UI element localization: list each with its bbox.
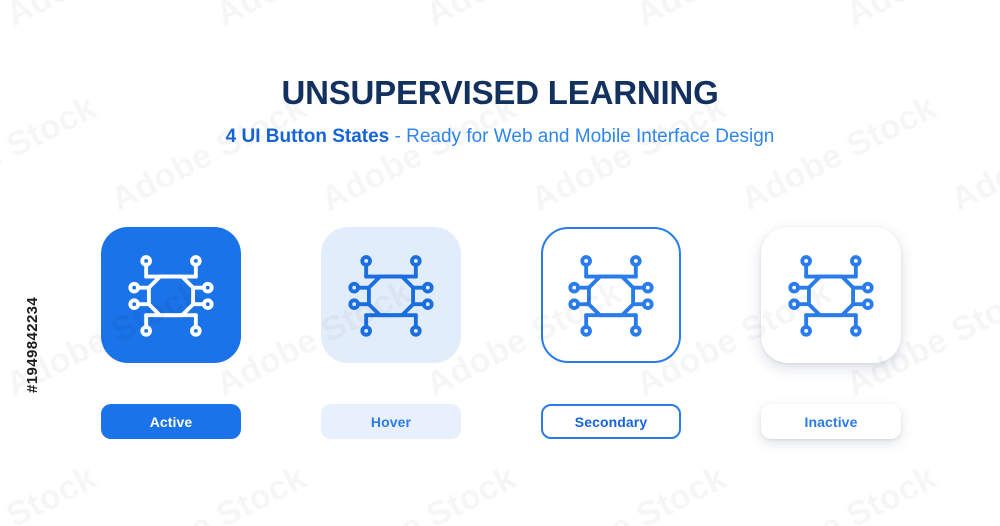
state-group-inactive: Inactive (761, 227, 901, 439)
watermark-text: Adobe Stock (420, 0, 628, 35)
state-button-secondary[interactable]: Secondary (541, 404, 681, 439)
watermark-text: Adobe Stock (735, 458, 943, 526)
state-group-hover: Hover (321, 227, 461, 439)
watermark-text: Adobe Stock (0, 458, 103, 526)
icon-card-secondary[interactable] (541, 227, 681, 363)
state-button-hover[interactable]: Hover (321, 404, 461, 439)
page-title: UNSUPERVISED LEARNING (0, 74, 1000, 112)
icon-card-hover[interactable] (321, 227, 461, 363)
neural-network-icon (565, 249, 657, 341)
watermark-text: Adobe Stock (525, 458, 733, 526)
watermark-text: Adobe Stock (0, 0, 208, 35)
watermark-text: Adobe Stock (315, 458, 523, 526)
neural-network-icon (125, 249, 217, 341)
state-group-secondary: Secondary (541, 227, 681, 439)
header: UNSUPERVISED LEARNING 4 UI Button States… (0, 74, 1000, 149)
neural-network-icon (785, 249, 877, 341)
watermark-text: Adobe Stock (630, 0, 838, 35)
neural-network-icon (345, 249, 437, 341)
watermark-text: Adobe Stock (945, 458, 1000, 526)
state-button-active[interactable]: Active (101, 404, 241, 439)
page-subtitle: 4 UI Button States - Ready for Web and M… (0, 126, 1000, 149)
subtitle-strong: 4 UI Button States (226, 126, 390, 147)
watermark-text: Adobe Stock (840, 0, 1000, 35)
subtitle-rest: - Ready for Web and Mobile Interface Des… (389, 126, 774, 147)
stock-id-watermark: #1949842234 (24, 263, 41, 393)
watermark-text: Adobe Stock (210, 0, 418, 35)
icon-card-active[interactable] (101, 227, 241, 363)
watermark-text: Adobe Stock (105, 458, 313, 526)
icon-card-inactive[interactable] (761, 227, 901, 363)
state-button-inactive[interactable]: Inactive (761, 404, 901, 439)
state-group-active: Active (101, 227, 241, 439)
